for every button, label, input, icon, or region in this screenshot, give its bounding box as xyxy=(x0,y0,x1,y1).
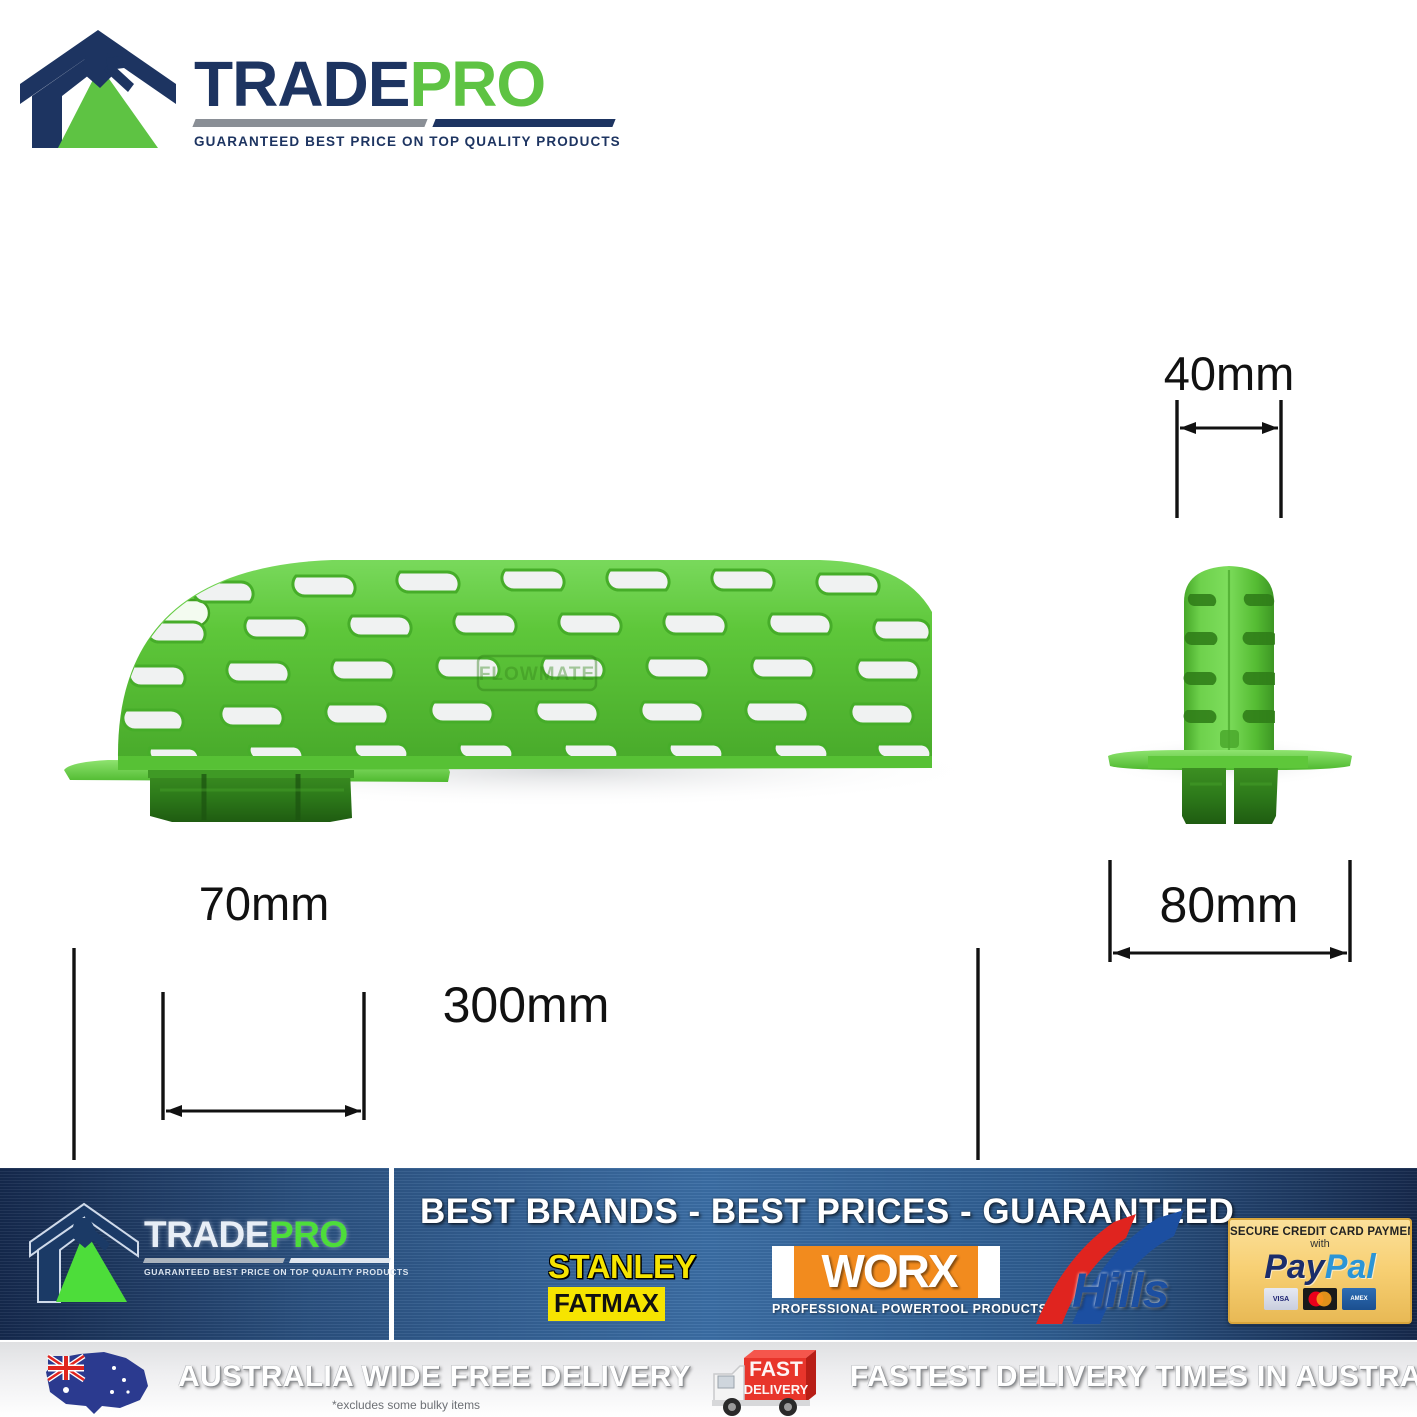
header-brand-logo: TRADEPRO GUARANTEED BEST PRICE ON TOP QU… xyxy=(18,16,638,156)
fatmax-wordmark: FATMAX xyxy=(548,1287,665,1321)
brand-name-pro: PRO xyxy=(409,48,545,120)
brand-name-trade: TRADE xyxy=(194,48,409,120)
dimension-label-front-height: 70mm xyxy=(199,877,330,930)
paypal-line1: SECURE CREDIT CARD PAYMENT xyxy=(1230,1226,1410,1238)
stanley-fatmax-logo: STANLEY FATMAX xyxy=(548,1250,718,1324)
product-listing-page: TRADEPRO GUARANTEED BEST PRICE ON TOP QU… xyxy=(0,0,1417,1417)
product-side-view xyxy=(1098,566,1358,824)
brand-trust-banner: TRADEPRO GUARANTEED BEST PRICE ON TOP QU… xyxy=(0,1168,1417,1340)
truck-text-fast: FAST xyxy=(749,1358,803,1381)
banner-tagline: GUARANTEED BEST PRICE ON TOP QUALITY PRO… xyxy=(144,1267,394,1277)
amex-card-icon: AMEX xyxy=(1342,1288,1376,1310)
worx-wordmark: WORX xyxy=(778,1246,1000,1298)
worx-subtitle: PROFESSIONAL POWERTOOL PRODUCTS xyxy=(772,1302,1000,1316)
delivery-left-text: AUSTRALIA WIDE FREE DELIVERY xyxy=(178,1360,691,1394)
paypal-pal: Pal xyxy=(1325,1248,1376,1286)
brand-rule-divider xyxy=(194,117,614,129)
svg-text:FLOWMATE: FLOWMATE xyxy=(479,664,595,685)
brand-rule-grey xyxy=(192,119,427,127)
dimension-label-side-width: 80mm xyxy=(1160,877,1299,933)
visa-card-icon: VISA xyxy=(1264,1288,1298,1310)
product-diagram-area: FLOWMATE xyxy=(0,170,1417,1160)
mastercard-card-icon xyxy=(1303,1288,1337,1310)
stanley-wordmark: STANLEY xyxy=(548,1250,718,1283)
banner-rule-divider xyxy=(144,1256,390,1264)
partner-brand-logos: STANLEY FATMAX WORX PROFESSIONAL POWERTO… xyxy=(420,1244,1210,1330)
brand-wordmark: TRADEPRO GUARANTEED BEST PRICE ON TOP QU… xyxy=(194,54,634,149)
dimension-label-front-width: 300mm xyxy=(443,977,610,1033)
hills-logo: Hills xyxy=(1028,1200,1210,1328)
fast-delivery-truck-icon: FAST DELIVERY xyxy=(706,1344,846,1417)
tradepro-house-hammer-icon-banner xyxy=(28,1198,140,1308)
paypal-pay: Pay xyxy=(1264,1248,1325,1286)
banner-brand-trade: TRADE xyxy=(144,1214,269,1255)
paypal-wordmark: PayPal xyxy=(1230,1250,1410,1284)
brand-tagline: GUARANTEED BEST PRICE ON TOP QUALITY PRO… xyxy=(194,134,634,149)
product-dimension-diagram: FLOWMATE xyxy=(0,170,1417,1160)
accepted-card-logos: VISA AMEX xyxy=(1230,1288,1410,1310)
paypal-secure-payment-badge: SECURE CREDIT CARD PAYMENT with PayPal V… xyxy=(1228,1218,1412,1324)
delivery-right-text: FASTEST DELIVERY TIMES IN AUSTRALIA xyxy=(850,1360,1417,1394)
brand-name: TRADEPRO xyxy=(194,54,634,115)
banner-rule-grey xyxy=(143,1258,285,1263)
brand-rule-navy xyxy=(432,119,615,127)
delivery-left-subtext: *excludes some bulky items xyxy=(332,1398,480,1412)
tradepro-house-hammer-icon xyxy=(18,22,178,152)
banner-brand-logo: TRADEPRO GUARANTEED BEST PRICE ON TOP QU… xyxy=(14,1190,394,1320)
banner-brand-pro: PRO xyxy=(269,1214,348,1255)
hills-wordmark: Hills xyxy=(1072,1264,1168,1319)
delivery-info-strip: AUSTRALIA WIDE FREE DELIVERY *excludes s… xyxy=(0,1340,1417,1417)
banner-brand-name: TRADEPRO xyxy=(144,1216,394,1253)
worx-orange-box: WORX xyxy=(772,1246,1000,1298)
truck-text-delivery: DELIVERY xyxy=(744,1382,809,1397)
worx-logo: WORX PROFESSIONAL POWERTOOL PRODUCTS xyxy=(772,1246,1002,1326)
australia-map-flag-icon xyxy=(28,1348,160,1416)
dimension-label-side-top: 40mm xyxy=(1164,347,1295,400)
banner-wordmark: TRADEPRO GUARANTEED BEST PRICE ON TOP QU… xyxy=(144,1216,394,1277)
banner-rule-light xyxy=(289,1258,391,1263)
